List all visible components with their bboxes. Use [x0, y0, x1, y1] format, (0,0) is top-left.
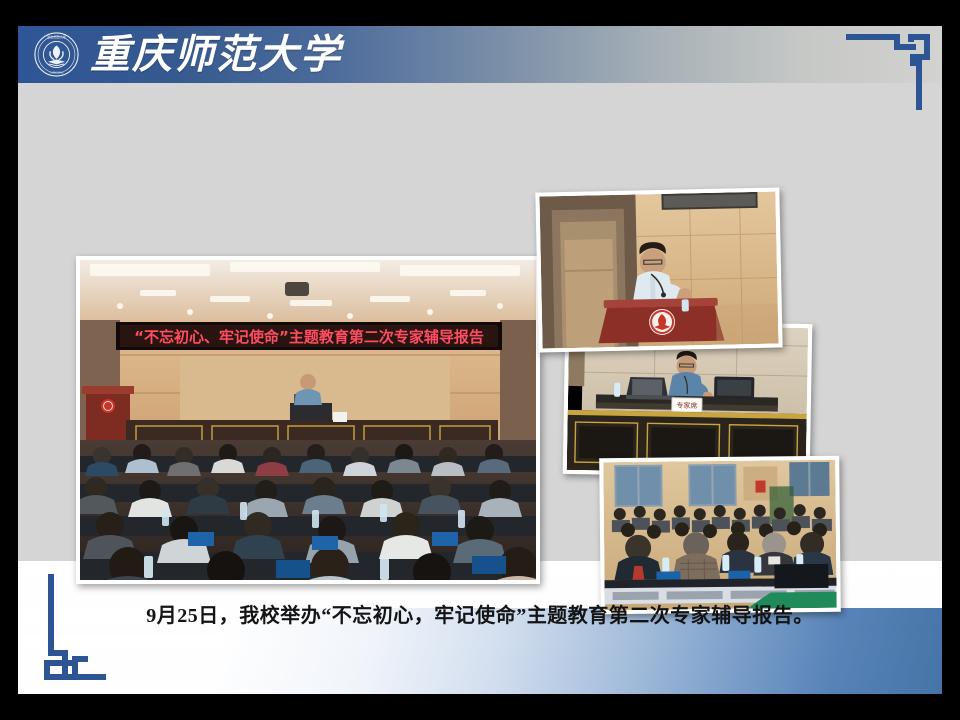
slide-canvas: 重庆师范大学 CHONGQING 重庆师范大学	[18, 26, 942, 694]
slide-header: 重庆师范大学 CHONGQING 重庆师范大学	[18, 26, 942, 83]
slide-caption: 9月25日，我校举办“不忘初心，牢记使命”主题教育第二次专家辅导报告。	[18, 599, 942, 628]
corner-ornament-bottom-left-icon	[38, 574, 130, 689]
main-auditorium-photo[interactable]: “不忘初心、牢记使命”主题教育第二次专家辅导报告	[76, 256, 540, 584]
nameplate-text: 专家席	[676, 401, 697, 410]
university-name-title: 重庆师范大学	[90, 28, 342, 82]
svg-text:CHONGQING: CHONGQING	[49, 71, 64, 74]
audience-photo[interactable]	[599, 456, 841, 615]
led-banner-text: “不忘初心、牢记使命”主题教育第二次专家辅导报告	[134, 328, 484, 346]
corner-ornament-top-right-icon	[846, 30, 934, 119]
podium-speaker-photo[interactable]	[535, 187, 782, 352]
slide-body: “不忘初心、牢记使命”主题教育第二次专家辅导报告	[18, 83, 942, 561]
svg-text:重庆师范大学: 重庆师范大学	[47, 34, 66, 39]
university-seal-icon: 重庆师范大学 CHONGQING	[34, 32, 79, 77]
